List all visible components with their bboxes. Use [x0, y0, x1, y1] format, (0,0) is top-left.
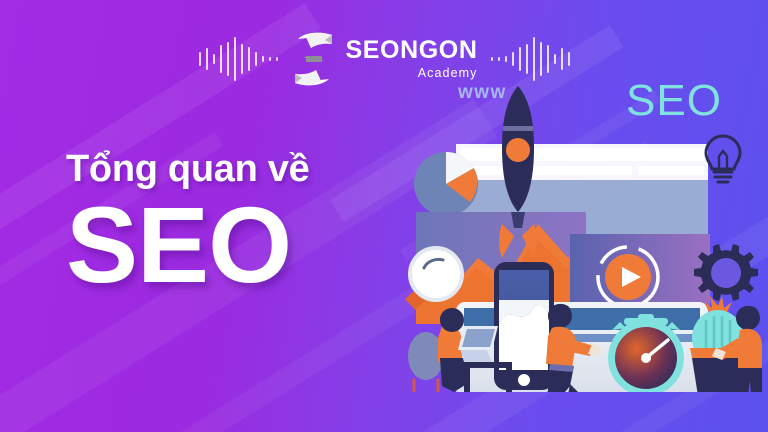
brand-name: SEONGON [346, 38, 478, 63]
wave-bar [206, 48, 208, 70]
wave-bar [234, 37, 236, 81]
www-label: www [458, 82, 507, 104]
wave-bar [199, 52, 201, 66]
wave-bar [498, 57, 500, 61]
stopwatch-icon [608, 314, 684, 392]
seo-illustration: www SEO [398, 62, 768, 392]
sound-wave-left [199, 36, 278, 82]
seo-label: SEO [626, 76, 722, 126]
smartphone-icon [494, 262, 554, 390]
wave-bar [255, 52, 257, 66]
wave-bar [269, 57, 271, 61]
wave-bar [491, 57, 493, 61]
wave-bar [241, 44, 243, 74]
wave-bar [227, 42, 229, 76]
lightbulb-icon [706, 136, 740, 182]
wave-bar [248, 47, 250, 71]
wave-bar [262, 56, 264, 62]
headline-title: SEO [66, 192, 406, 298]
wave-bar [220, 45, 222, 73]
wave-bar [213, 54, 215, 64]
seongon-s-ribbon-mark-icon [291, 32, 335, 86]
seo-course-banner: SEONGON Academy Tổng quan về SEO [0, 0, 768, 432]
headline-block: Tổng quan về SEO [66, 150, 406, 298]
